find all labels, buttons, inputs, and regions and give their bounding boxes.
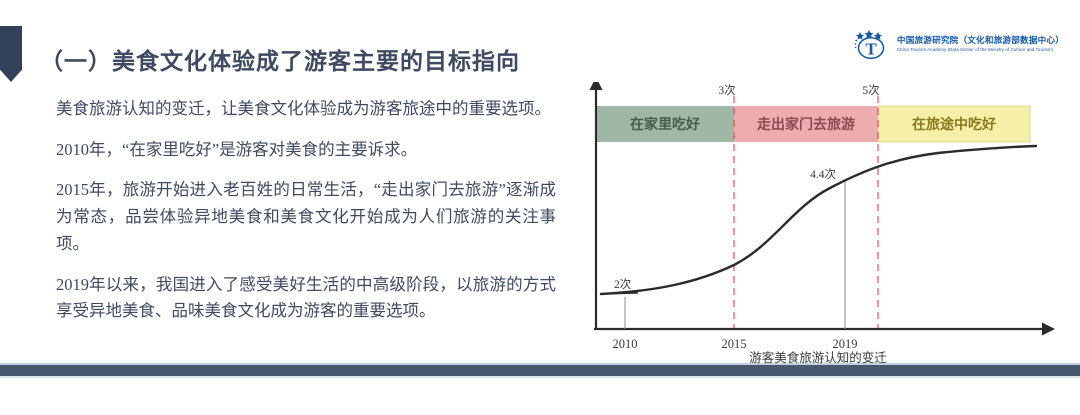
decorative-bookmark-shape	[0, 26, 22, 82]
paragraph-1: 美食旅游认知的变迁，让美食文化体验成为游客旅途中的重要选项。	[56, 96, 556, 123]
svg-text:T: T	[865, 40, 877, 59]
logo-name-cn: 中国旅游研究院（文化和旅游部数据中心）	[897, 36, 1064, 46]
paragraph-2: 2010年，“在家里吃好”是游客对美食的主要诉求。	[56, 137, 556, 164]
band-label-green: 在家里吃好	[630, 116, 700, 133]
logo-text-block: 中国旅游研究院（文化和旅游部数据中心） China Tourism Academ…	[897, 36, 1064, 52]
body-text-block: 美食旅游认知的变迁，让美食文化体验成为游客旅途中的重要选项。 2010年，“在家…	[56, 96, 556, 325]
tourism-academy-logo-icon: T	[854, 28, 890, 60]
x-tick-2019: 2019	[833, 337, 858, 351]
band-label-yellow: 在旅途中吃好	[912, 116, 996, 133]
cognition-evolution-chart: 在家里吃好 走出家门去旅游 在旅途中吃好 3次 5次 2次 4.4次 2010 …	[568, 82, 1068, 364]
x-tick-2010: 2010	[613, 337, 638, 351]
chart-caption: 游客美食旅游认知的变迁	[749, 350, 887, 364]
x-tick-2015: 2015	[722, 337, 747, 351]
chart-svg: 在家里吃好 走出家门去旅游 在旅途中吃好 3次 5次 2次 4.4次 2010 …	[568, 82, 1068, 364]
logo-name-en: China Tourism Academy (Data Center of th…	[897, 47, 1064, 52]
annotation-4p4ci: 4.4次	[810, 167, 836, 181]
annotation-3ci: 3次	[718, 83, 736, 97]
organization-logo: T 中国旅游研究院（文化和旅游部数据中心） China Tourism Acad…	[854, 28, 1064, 60]
paragraph-3: 2015年，旅游开始进入老百姓的日常生活，“走出家门去旅游”逐渐成为常态，品尝体…	[56, 177, 556, 257]
paragraph-4: 2019年以来，我国进入了感受美好生活的中高级阶段，以旅游的方式享受异地美食、品…	[56, 272, 556, 325]
annotation-2ci: 2次	[614, 277, 632, 291]
annotation-5ci: 5次	[862, 83, 880, 97]
page-title: （一）美食文化体验成了游客主要的目标指向	[40, 42, 520, 76]
bottom-accent-bar	[0, 363, 1080, 378]
band-label-pink: 走出家门去旅游	[757, 116, 855, 133]
